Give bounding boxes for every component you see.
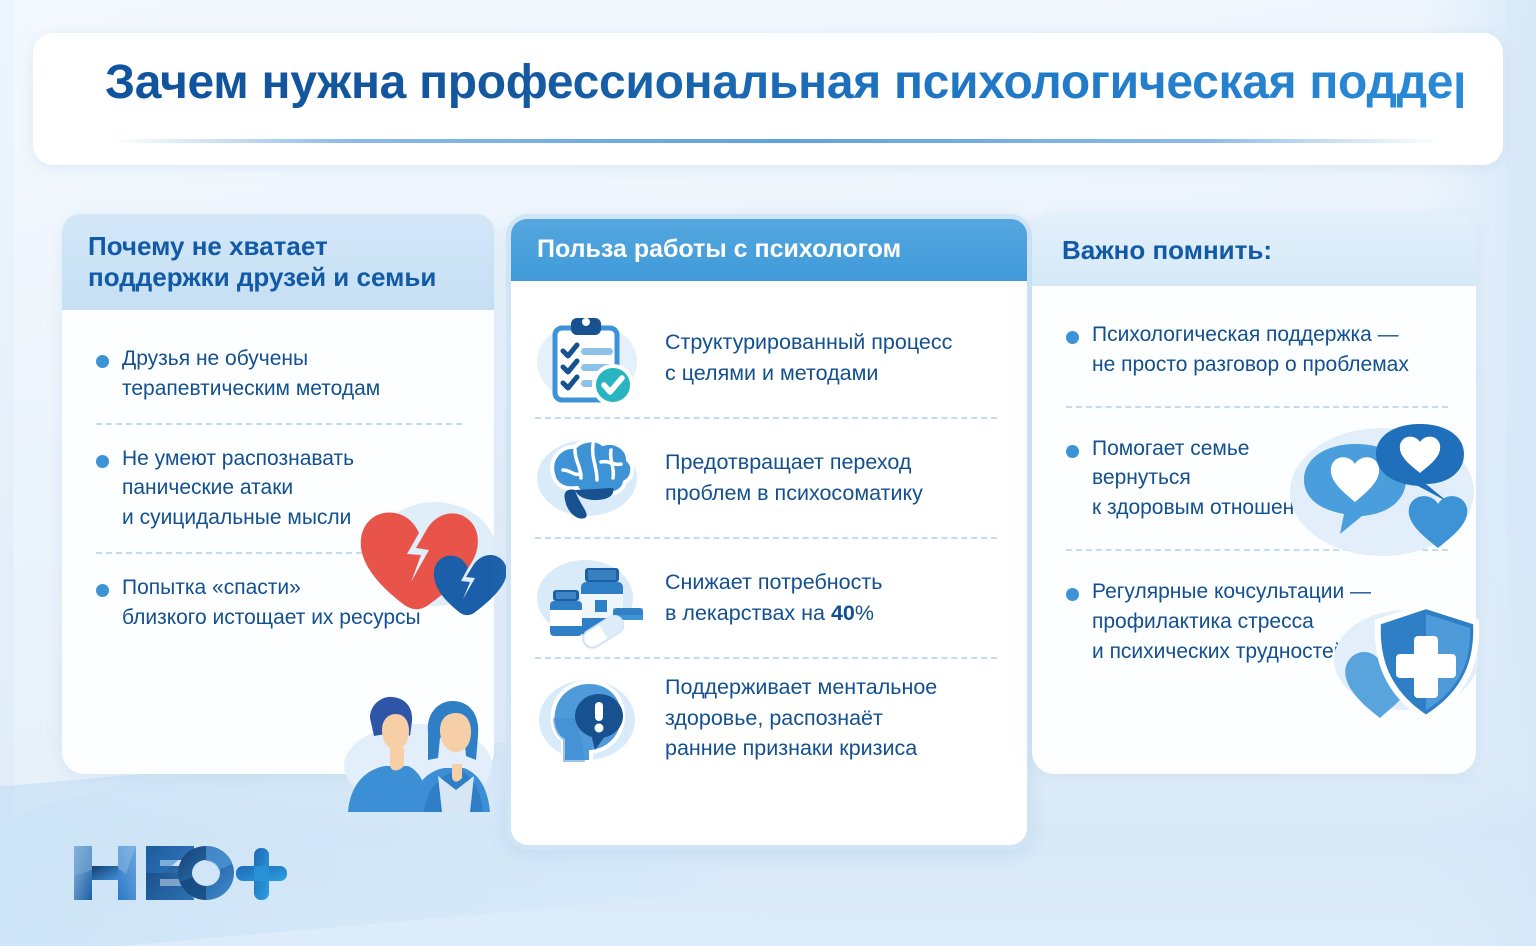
- broken-hearts-icon: [355, 492, 510, 617]
- bullet-dot-icon: [96, 455, 109, 468]
- infographic-canvas: Зачем нужна профессиональная психологиче…: [0, 0, 1536, 946]
- clipboard-checklist-icon: [529, 306, 651, 410]
- divider: [535, 657, 997, 659]
- bullet-dot-icon: [96, 355, 109, 368]
- left-card-title-line1: Почему не хватает: [88, 231, 328, 261]
- bullet-dot-icon: [1066, 331, 1079, 344]
- card-benefits-of-psychologist: Польза работы с психологом: [506, 214, 1032, 850]
- neo-plus-logo: [68, 838, 298, 908]
- highlight-value: 40: [831, 601, 855, 625]
- divider: [535, 417, 997, 419]
- list-item[interactable]: Психологическая поддержка — не просто ра…: [1062, 320, 1454, 380]
- list-item[interactable]: Предотвращает переход проблем в психосом…: [529, 423, 1003, 533]
- list-item[interactable]: Поддерживает ментальное здоровье, распоз…: [529, 663, 1003, 773]
- divider: [535, 537, 997, 539]
- list-item-text: Друзья не обучены терапевтическим метода…: [122, 344, 468, 404]
- left-card-title-line2: поддержки друзей и семьи: [88, 262, 436, 292]
- header-card: Зачем нужна профессиональная психологиче…: [33, 33, 1503, 165]
- divider: [96, 423, 462, 425]
- left-card-title: Почему не хватает поддержки друзей и сем…: [88, 231, 468, 292]
- medicine-bottles-icon: [529, 546, 651, 650]
- right-card-title: Важно помнить:: [1062, 235, 1272, 266]
- list-item-text: Поддерживает ментальное здоровье, распоз…: [665, 672, 937, 764]
- bullet-dot-icon: [1066, 588, 1079, 601]
- head-alert-icon: [529, 666, 651, 770]
- left-card-header: Почему не хватает поддержки друзей и сем…: [62, 214, 494, 310]
- bullet-dot-icon: [96, 584, 109, 597]
- benefits-list: Структурированный процесс с целями и мет…: [511, 281, 1027, 773]
- list-item[interactable]: Структурированный процесс с целями и мет…: [529, 303, 1003, 413]
- list-item-text: Структурированный процесс с целями и мет…: [665, 327, 952, 388]
- list-item-text: Снижает потребность в лекарствах на 40%: [665, 567, 882, 628]
- shield-heart-cross-icon: [1330, 600, 1495, 730]
- mid-card-header: Польза работы с психологом: [511, 219, 1027, 281]
- divider: [1066, 406, 1448, 408]
- bullet-dot-icon: [1066, 445, 1079, 458]
- speech-bubble-hearts-icon: [1278, 418, 1478, 568]
- mid-card-title: Польза работы с психологом: [537, 235, 901, 265]
- list-item-text: Предотвращает переход проблем в психосом…: [665, 447, 923, 508]
- list-item[interactable]: Снижает потребность в лекарствах на 40%: [529, 543, 1003, 653]
- page-title: Зачем нужна профессиональная психологиче…: [105, 57, 1463, 110]
- mid-card-body: Структурированный процесс с целями и мет…: [511, 281, 1027, 845]
- couple-people-icon: [330, 694, 500, 812]
- brain-icon: [529, 426, 651, 530]
- right-card-header: Важно помнить:: [1032, 214, 1476, 286]
- title-underline: [111, 139, 1443, 143]
- list-item-text: Психологическая поддержка — не просто ра…: [1092, 320, 1454, 380]
- list-item[interactable]: Друзья не обучены терапевтическим метода…: [92, 344, 468, 404]
